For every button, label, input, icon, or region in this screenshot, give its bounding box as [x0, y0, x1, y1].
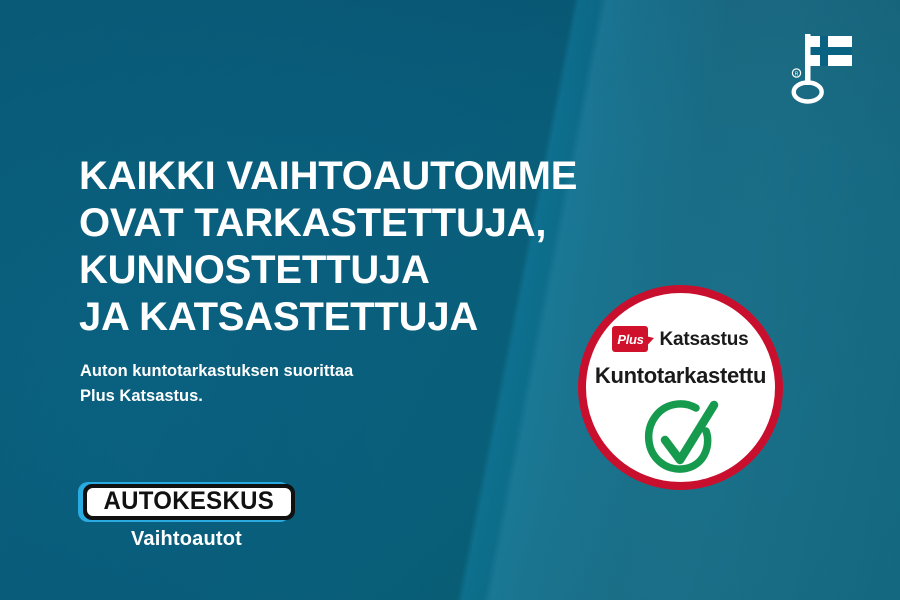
subtitle-line-1: Auton kuntotarkastuksen suorittaa	[80, 359, 510, 384]
registered-mark-icon: R	[792, 69, 800, 78]
badge-brand-lockup: Plus Katsastus	[586, 326, 775, 352]
badge-claim-text: Kuntotarkastettu	[586, 363, 775, 389]
finnish-key-flag-icon: R	[786, 28, 858, 106]
logo-plate-inner: AUTOKESKUS	[87, 488, 291, 516]
headline-line-1: KAIKKI VAIHTOAUTOMME	[79, 153, 719, 200]
logo-plate: AUTOKESKUS	[83, 484, 295, 520]
subtitle: Auton kuntotarkastuksen suorittaa Plus K…	[80, 359, 510, 409]
autokeskus-logo[interactable]: AUTOKESKUS Vaihtoautot	[78, 482, 308, 558]
green-check-circle-icon	[638, 398, 724, 478]
logo-wordmark: AUTOKESKUS	[104, 489, 274, 515]
plus-katsastus-badge: Plus Katsastus Kuntotarkastettu	[578, 285, 783, 490]
badge-brand-name: Katsastus	[659, 330, 748, 349]
headline-line-2: OVAT TARKASTETTUJA,	[79, 200, 719, 247]
plus-logo-text: Plus	[612, 326, 648, 352]
svg-text:R: R	[795, 72, 799, 78]
logo-subtitle: Vaihtoautot	[78, 528, 295, 551]
promo-banner: R KAIKKI VAIHTOAUTOMME OVAT TARKASTETTUJ…	[0, 0, 900, 600]
headline-line-3: KUNNOSTETTUJA	[79, 247, 719, 294]
plus-logo-mark: Plus	[612, 326, 654, 352]
subtitle-line-2: Plus Katsastus.	[80, 384, 510, 409]
